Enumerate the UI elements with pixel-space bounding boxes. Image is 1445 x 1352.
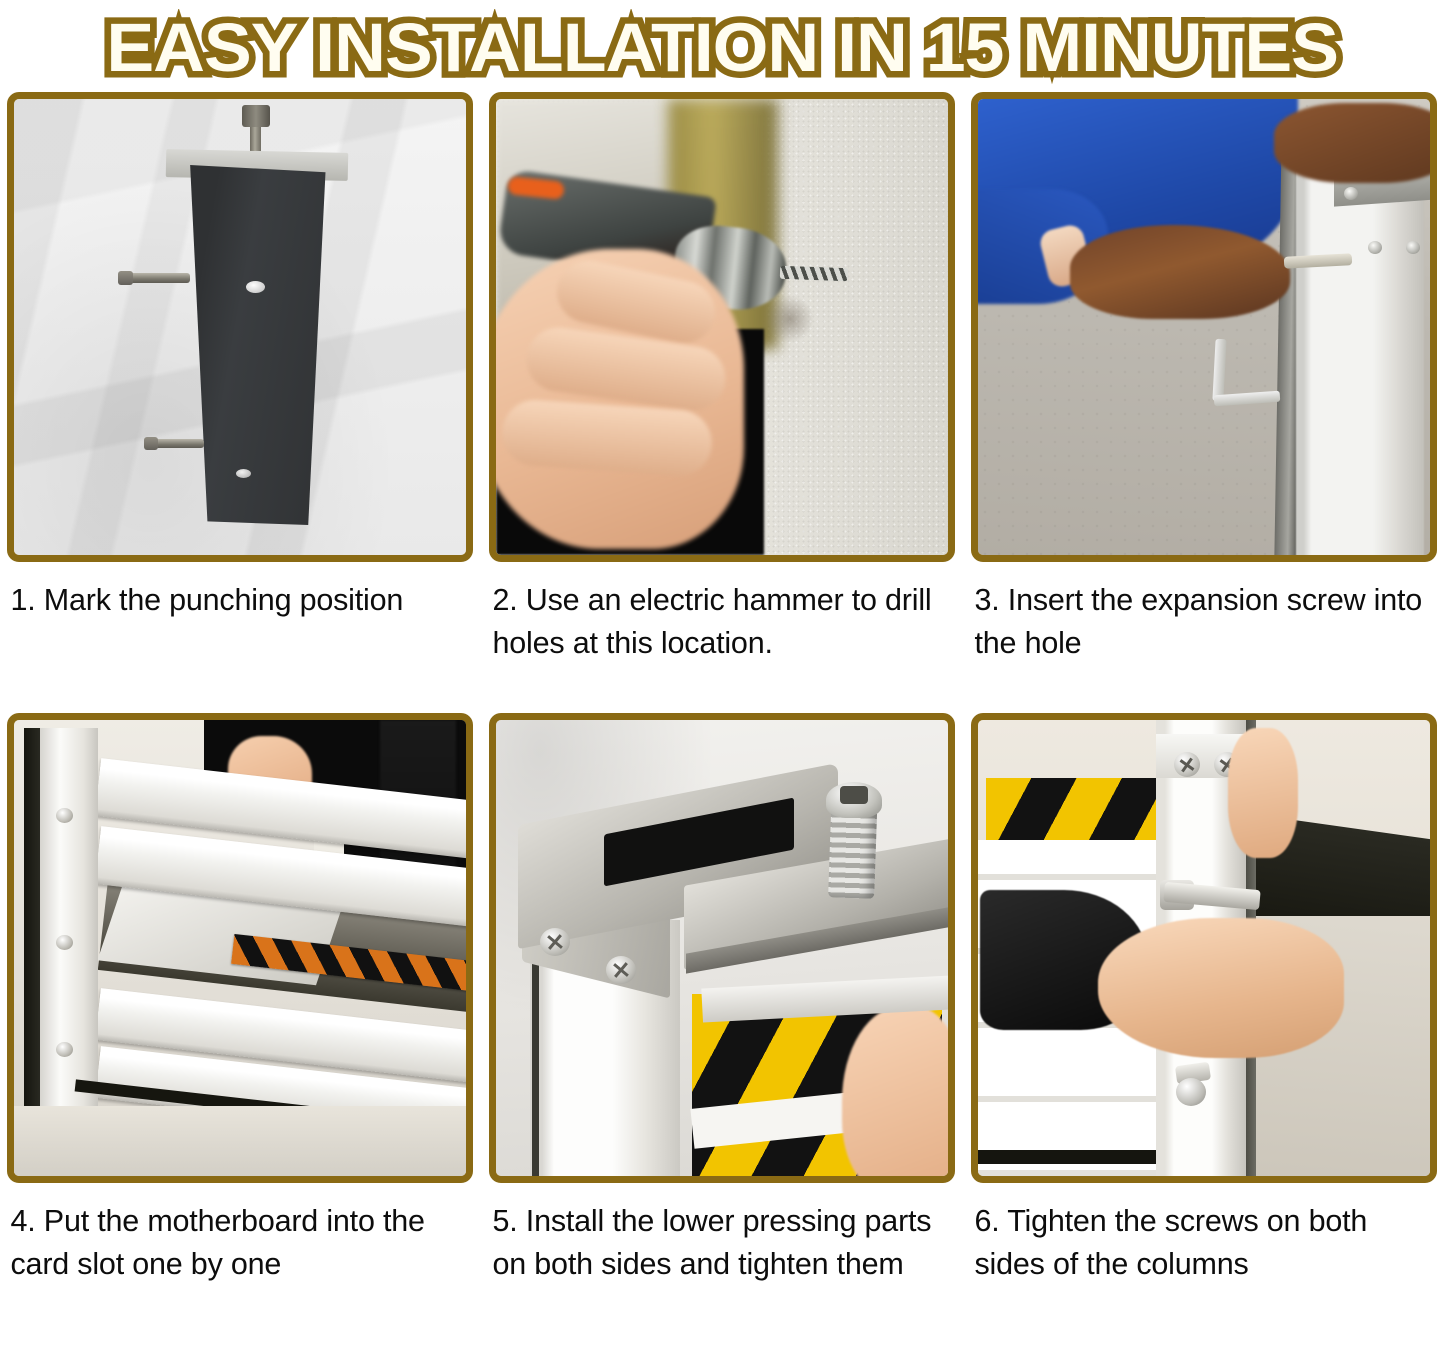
hex-socket (840, 786, 868, 804)
expansion-screw-1 (1344, 187, 1358, 200)
step-4-caption: 4. Put the motherboard into the card slo… (7, 1183, 475, 1320)
step-card-6: 6. Tighten the screws on both sides of t… (965, 713, 1445, 1320)
step-3-photo (978, 99, 1430, 555)
column-screw-3 (56, 1042, 73, 1057)
step-2-caption: 2. Use an electric hammer to drill holes… (489, 562, 957, 697)
mounting-hole-upper (246, 281, 265, 293)
drill-dust (766, 295, 814, 343)
step-6-caption: 6. Tighten the screws on both sides of t… (971, 1183, 1439, 1320)
floor (14, 1106, 466, 1176)
expansion-screw-2 (1368, 241, 1382, 254)
worker-hand (1070, 225, 1290, 319)
row-divider (0, 697, 1445, 713)
step-1-photo-frame (7, 92, 473, 562)
step-6-photo (978, 720, 1430, 1176)
phillips-screw-1 (540, 928, 570, 956)
phillips-screw-2 (606, 956, 636, 984)
rod-nut (242, 105, 270, 127)
board-bottom-seal (978, 1150, 1158, 1164)
lower-screw (1176, 1078, 1206, 1106)
column-screw-1 (56, 808, 73, 823)
step-4-photo-frame (7, 713, 473, 1183)
mounting-hole-lower (236, 469, 251, 478)
bolt-upper-head (118, 271, 133, 285)
step-card-2: 2. Use an electric hammer to drill holes… (483, 92, 963, 697)
step-3-photo-frame (971, 92, 1437, 562)
installer-hand (1098, 918, 1344, 1058)
step-1-caption: 1. Mark the punching position (7, 562, 475, 697)
step-card-4: 4. Put the motherboard into the card slo… (1, 713, 481, 1320)
step-5-photo (496, 720, 948, 1176)
step-card-3: 3. Insert the expansion screw into the h… (965, 92, 1445, 697)
step-card-1: 1. Mark the punching position (1, 92, 481, 697)
step-card-5: 5. Install the lower pressing parts on b… (483, 713, 963, 1320)
bolt-lower-head (144, 437, 158, 450)
step-2-photo-frame (489, 92, 955, 562)
column-screw-2 (56, 935, 73, 950)
expansion-screw-3 (1406, 241, 1420, 254)
hazard-stripe-board (986, 778, 1156, 842)
worker-hand-upper (1274, 103, 1430, 183)
channel-column (40, 728, 98, 1118)
drill-bit (779, 266, 847, 281)
step-4-photo (14, 720, 466, 1176)
step-5-caption: 5. Install the lower pressing parts on b… (489, 1183, 957, 1320)
step-6-photo-frame (971, 713, 1437, 1183)
top-screw-1 (1174, 752, 1200, 777)
step-2-photo (496, 99, 948, 555)
page-title: EASY INSTALLATION IN 15 MINUTES (107, 13, 1339, 82)
header-banner: EASY INSTALLATION IN 15 MINUTES (0, 0, 1445, 92)
steps-row-bottom: 4. Put the motherboard into the card slo… (0, 713, 1445, 1320)
step-1-photo (14, 99, 466, 555)
step-5-photo-frame (489, 713, 955, 1183)
second-hand (1228, 728, 1298, 858)
step-3-caption: 3. Insert the expansion screw into the h… (971, 562, 1439, 697)
steps-row-top: 1. Mark the punching position 2. Use an … (0, 92, 1445, 697)
